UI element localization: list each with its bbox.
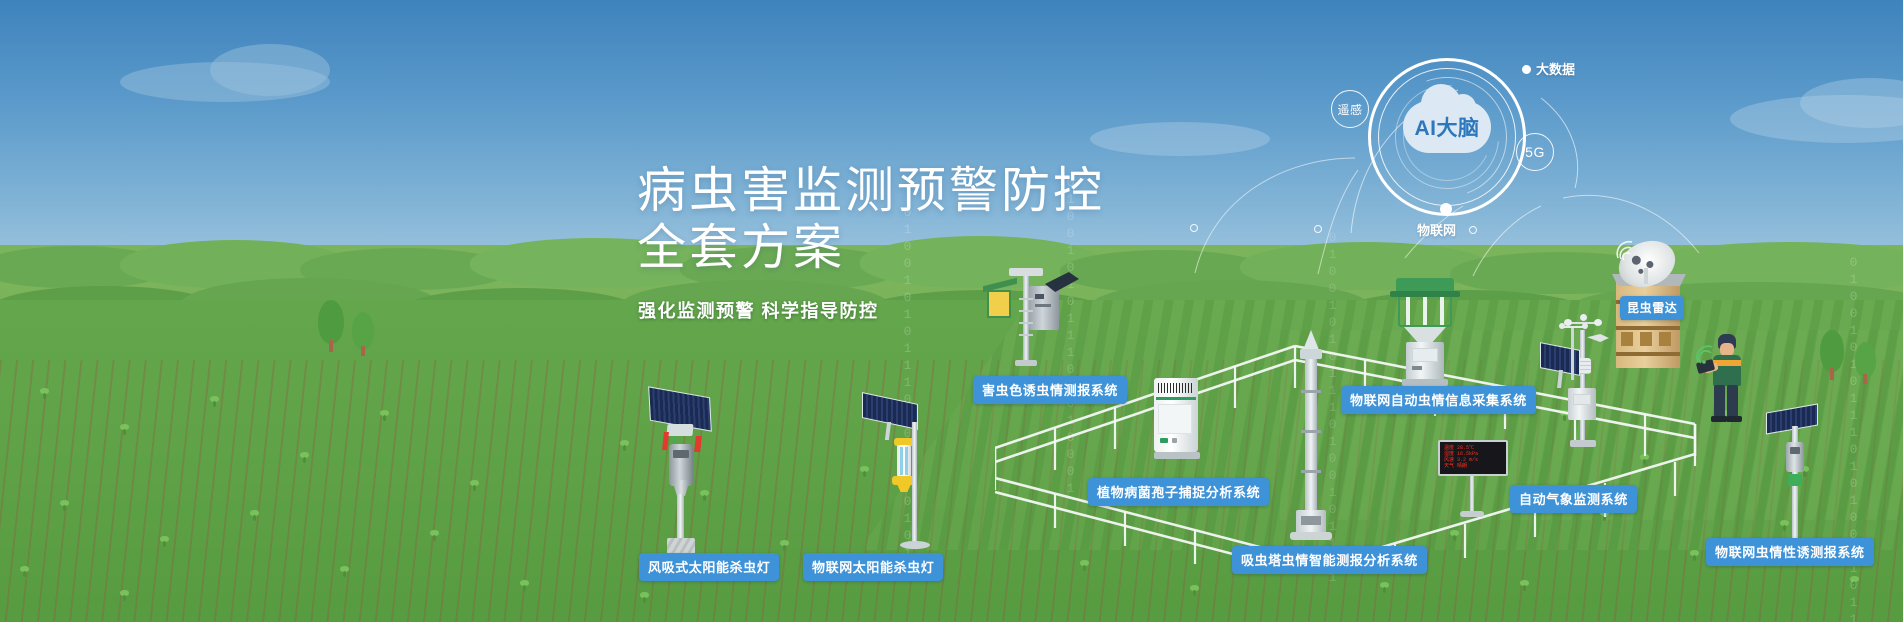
device-wind-suction-lamp: [643, 392, 729, 560]
callout-insect-radar[interactable]: 昆虫雷达: [1620, 296, 1684, 320]
network-endpoint-dot: [1190, 224, 1198, 232]
banner-illustration: 病虫害监测预警防控 全套方案 强化监测预警 科学指导防控 01001010111…: [0, 0, 1903, 622]
node-remote-sensing[interactable]: 遥感: [1331, 90, 1369, 128]
ai-brain-graphic: AI大脑 遥感 大数据 5G 物联网: [1343, 38, 1603, 248]
node-bigdata-dot[interactable]: [1522, 65, 1531, 74]
network-endpoint-dot: [1469, 226, 1477, 234]
node-iot-dot[interactable]: [1440, 203, 1452, 215]
cloud-shape: [210, 44, 330, 96]
field-worker-figure: [1700, 334, 1758, 424]
callout-auto-weather[interactable]: 自动气象监测系统: [1510, 485, 1637, 513]
title-line-1: 病虫害监测预警防控: [637, 163, 1105, 220]
device-iot-insect-collector: [1390, 278, 1462, 388]
callout-iot-pheromone[interactable]: 物联网虫情性诱测报系统: [1706, 538, 1874, 566]
led-screen: 温度 28.5℃ 湿度 16.5kPa 风速 3.2 m/s 天气 晴朗: [1438, 440, 1508, 476]
led-line-4: 天气 晴朗: [1444, 463, 1502, 469]
node-iot-label: 物联网: [1417, 220, 1456, 239]
callout-iot-insect-collector[interactable]: 物联网自动虫情信息采集系统: [1341, 386, 1536, 414]
node-bigdata-label: 大数据: [1536, 59, 1575, 78]
network-endpoint-dot: [1314, 225, 1322, 233]
node-5g-label: 5G: [1525, 144, 1545, 160]
callout-iot-solar-lamp[interactable]: 物联网太阳能杀虫灯: [803, 553, 943, 581]
ai-brain-label: AI大脑: [1403, 112, 1491, 142]
device-pest-color-trap: [985, 268, 1075, 378]
led-display-board: 温度 28.5℃ 湿度 16.5kPa 风速 3.2 m/s 天气 晴朗: [1438, 440, 1516, 518]
callout-spore-capture[interactable]: 植物病菌孢子捕捉分析系统: [1088, 478, 1269, 506]
binary-decor-left: 010010101110101000101: [900, 205, 915, 355]
callout-wind-suction-lamp[interactable]: 风吸式太阳能杀虫灯: [639, 553, 779, 581]
wifi-icon: [1694, 342, 1720, 366]
page-title: 病虫害监测预警防控 全套方案: [637, 163, 1105, 277]
node-remote-sensing-label: 遥感: [1337, 101, 1362, 118]
device-iot-solar-lamp: [862, 398, 940, 558]
device-mini-weather-pole: [1555, 326, 1595, 386]
callout-pest-color-trap[interactable]: 害虫色诱虫情测报系统: [973, 376, 1127, 404]
callout-suction-tower[interactable]: 吸虫塔虫情智能测报分析系统: [1232, 546, 1427, 574]
signal-waves-icon: [1610, 232, 1644, 262]
node-5g[interactable]: 5G: [1516, 133, 1554, 171]
device-spore-capture: [1154, 378, 1206, 462]
page-subtitle: 强化监测预警 科学指导防控: [638, 297, 879, 323]
device-suction-tower: [1290, 330, 1332, 540]
